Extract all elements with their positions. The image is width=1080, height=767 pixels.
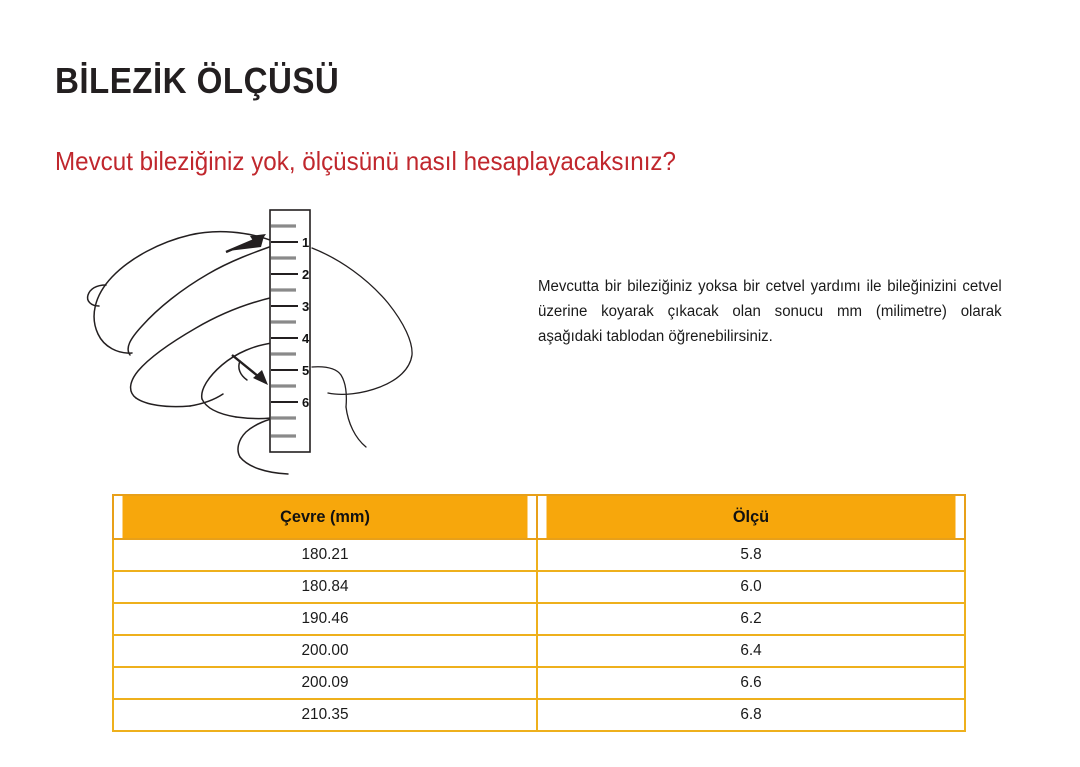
measure-arrow-top [226,234,266,252]
page-subtitle: Mevcut bileziğiniz yok, ölçüsünü nasıl h… [55,146,676,177]
hand-on-ruler-illustration: 1 2 3 4 5 6 [50,195,470,475]
page-title: BİLEZİK ÖLÇÜSÜ [55,60,339,102]
column-header-circumference: Çevre (mm) [121,495,528,539]
cell-circumference: 200.00 [121,635,528,667]
cell-size: 6.6 [546,667,957,699]
cell-size: 6.4 [546,635,957,667]
cell-size: 6.0 [546,571,957,603]
table-row: 210.35 6.8 [113,699,965,731]
wrist-shape [312,248,412,447]
ruler-label-3: 3 [302,299,309,314]
table-row: 180.84 6.0 [113,571,965,603]
bracelet-size-table: Çevre (mm) Ölçü 180.21 5.8 180.84 6.0 19… [112,494,966,732]
cell-circumference: 210.35 [121,699,528,731]
table-row: 190.46 6.2 [113,603,965,635]
cell-circumference: 180.21 [121,539,528,571]
description-text: Mevcutta bir bileziğiniz yoksa bir cetve… [538,274,1002,349]
cell-size: 5.8 [546,539,957,571]
ruler-label-2: 2 [302,267,309,282]
measure-arrow-bottom [232,355,268,385]
ruler-label-6: 6 [302,395,309,410]
cell-circumference: 180.84 [121,571,528,603]
cell-circumference: 190.46 [121,603,528,635]
column-header-size: Ölçü [546,495,957,539]
table-header-row: Çevre (mm) Ölçü [113,495,965,539]
cell-size: 6.2 [546,603,957,635]
table-row: 200.09 6.6 [113,667,965,699]
ruler-label-4: 4 [302,331,310,346]
cell-size: 6.8 [546,699,957,731]
hand-line-art [88,232,288,474]
table-row: 180.21 5.8 [113,539,965,571]
cell-circumference: 200.09 [121,667,528,699]
table-row: 200.00 6.4 [113,635,965,667]
ruler: 1 2 3 4 5 6 [270,210,310,452]
ruler-label-1: 1 [302,235,309,250]
ruler-label-5: 5 [302,363,309,378]
